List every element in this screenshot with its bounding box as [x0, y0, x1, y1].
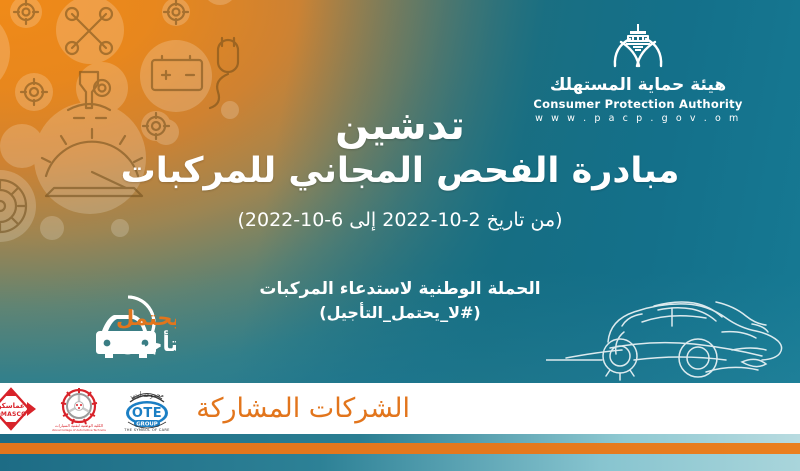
- svg-text:OMASCO: OMASCO: [0, 411, 27, 418]
- svg-text:مجموعة أوتي: مجموعة أوتي: [130, 391, 164, 399]
- svg-text:THE SYMBOL OF CARE: THE SYMBOL OF CARE: [123, 428, 170, 432]
- mark-line-1: لا يحتمل: [116, 306, 176, 330]
- bottom-stripe-teal-top: [0, 434, 800, 443]
- mark-line-2: التأجيل: [120, 329, 176, 356]
- oman-national-emblem-icon: [609, 22, 667, 70]
- authority-name-ar: هيئة حماية المستهلك: [504, 76, 772, 95]
- partners-title: الشركات المشاركة: [196, 395, 410, 422]
- sedan-line-art: [546, 274, 796, 384]
- omasco-logo[interactable]: عماسكو OMASCO: [0, 386, 38, 432]
- bottom-stripe-orange: [0, 443, 800, 454]
- svg-text:عماسكو: عماسكو: [0, 402, 25, 410]
- svg-text:OTE: OTE: [132, 406, 162, 421]
- national-college-automotive-technology-logo[interactable]: الكلية الوطنية لتقنية السيارات National …: [52, 386, 106, 432]
- campaign-banner: هيئة حماية المستهلك Consumer Protection …: [0, 0, 800, 471]
- headline-block: تدشين مبادرة الفحص المجاني للمركبات (من …: [0, 104, 800, 233]
- headline-dates: (من تاريخ 2-10-2022 إلى 6-10-2022): [0, 208, 800, 233]
- svg-text:National College of Automotive: National College of Automotive Technolog…: [52, 428, 106, 432]
- headline-line-1: تدشين: [0, 104, 800, 149]
- partners-bar: الشركات المشاركة مجموعة أوتي OTE GROUP T…: [0, 383, 800, 434]
- bottom-stripe-teal-bottom: [0, 454, 800, 471]
- partner-logo-list: مجموعة أوتي OTE GROUP THE SYMBOL OF CARE: [0, 386, 174, 432]
- campaign-mark: لا يحتمل التأجيل: [24, 287, 176, 367]
- ote-group-logo[interactable]: مجموعة أوتي OTE GROUP THE SYMBOL OF CARE: [120, 386, 174, 432]
- headline-line-2: مبادرة الفحص المجاني للمركبات: [0, 151, 800, 192]
